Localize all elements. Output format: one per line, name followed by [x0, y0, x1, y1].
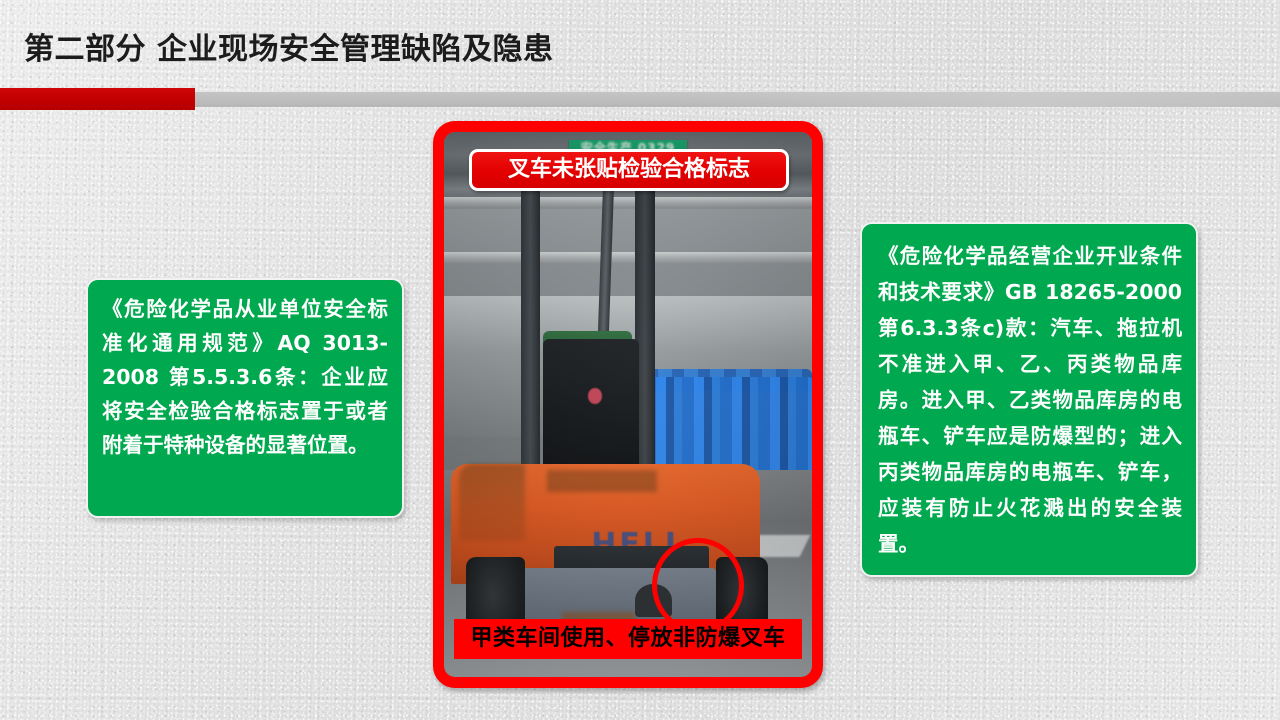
photo-forklift-seat — [543, 339, 639, 481]
page-title: 第二部分 企业现场安全管理缺陷及隐患 — [24, 24, 553, 68]
photo-forklift-mast-left — [521, 154, 539, 470]
callout-right-text: 《危险化学品经营企业开业条件和技术要求》GB 18265-2000 第6.3.3… — [878, 238, 1182, 562]
photo-frame: 安全生产 0329 HELI 叉车未张贴检验合格标志 甲类车间使用、停放非防爆叉… — [433, 121, 823, 688]
callout-left-text: 《危险化学品从业单位安全标准化通用规范》AQ 3013-2008 第5.5.3.… — [102, 292, 388, 462]
header-divider — [0, 88, 1280, 112]
photo-forklift-rust-patch-top — [547, 470, 657, 492]
callout-left-standard-aq3013: 《危险化学品从业单位安全标准化通用规范》AQ 3013-2008 第5.5.3.… — [86, 278, 404, 518]
photo-forklift-rust-patch-left — [459, 464, 525, 540]
forklift-photo: 安全生产 0329 HELI — [444, 132, 812, 677]
caption-bottom-label: 甲类车间使用、停放非防爆叉车 — [454, 619, 802, 659]
header-divider-red-bar — [0, 88, 195, 110]
photo-beam-mid — [444, 252, 812, 264]
callout-right-standard-gb18265: 《危险化学品经营企业开业条件和技术要求》GB 18265-2000 第6.3.3… — [860, 222, 1198, 577]
photo-beam-upper — [444, 197, 812, 209]
caption-top-label: 叉车未张贴检验合格标志 — [469, 149, 789, 191]
